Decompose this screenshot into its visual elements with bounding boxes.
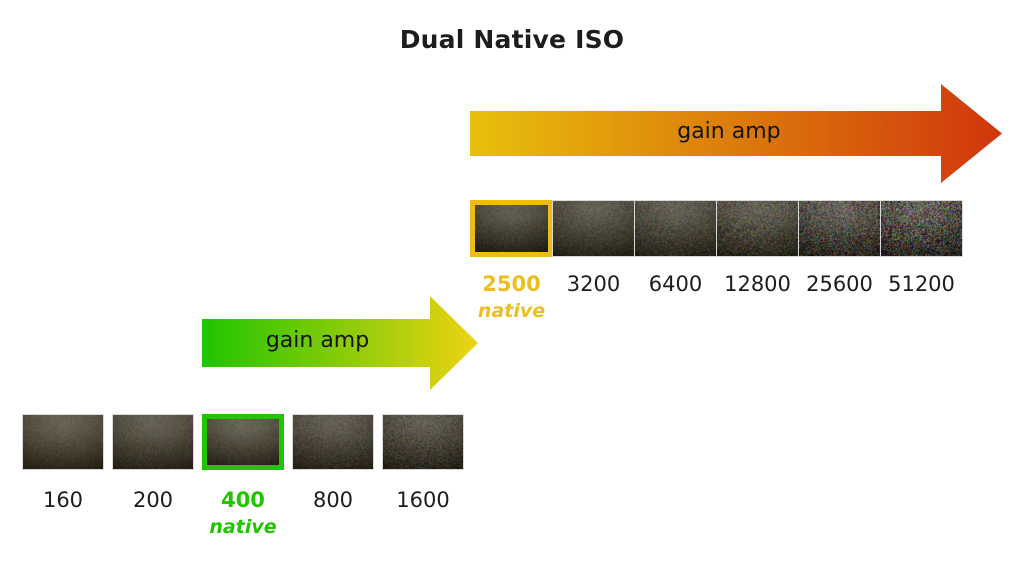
- patch-vignette: [383, 415, 463, 469]
- iso-noise-patch: [552, 200, 635, 257]
- iso-cell: 51200: [880, 200, 963, 257]
- patch-vignette: [799, 201, 880, 256]
- gain-amp-label-high: gain amp: [677, 119, 780, 144]
- iso-cell: 200: [112, 414, 194, 470]
- slide-canvas: Dual Native ISO gain amp 2500native32006…: [0, 0, 1024, 576]
- iso-value-label: 6400: [634, 272, 717, 296]
- iso-value-label: 1600: [382, 488, 464, 512]
- iso-noise-patch: [470, 200, 553, 257]
- iso-noise-patch: [22, 414, 104, 470]
- iso-noise-patch: [880, 200, 963, 257]
- iso-patch-row-high: 2500native32006400128002560051200: [470, 200, 962, 324]
- iso-noise-patch: [382, 414, 464, 470]
- patch-vignette: [881, 201, 962, 256]
- iso-patch-row-low: 160200400native8001600: [22, 414, 472, 540]
- iso-noise-patch: [716, 200, 799, 257]
- patch-vignette: [207, 419, 279, 465]
- iso-noise-patch: [292, 414, 374, 470]
- iso-cell: 1600: [382, 414, 464, 470]
- iso-cell: 25600: [798, 200, 881, 257]
- iso-cell: 400native: [202, 414, 284, 470]
- gain-amp-label-low: gain amp: [266, 328, 369, 353]
- iso-cell: 6400: [634, 200, 717, 257]
- iso-cell: 3200: [552, 200, 635, 257]
- patch-vignette: [553, 201, 634, 256]
- page-title: Dual Native ISO: [0, 25, 1024, 54]
- iso-noise-patch: [112, 414, 194, 470]
- patch-vignette: [113, 415, 193, 469]
- native-iso-badge: native: [470, 300, 553, 322]
- iso-cell: 800: [292, 414, 374, 470]
- iso-value-label: 2500: [470, 272, 553, 296]
- iso-cell: 160: [22, 414, 104, 470]
- iso-noise-patch: [202, 414, 284, 470]
- iso-noise-patch: [798, 200, 881, 257]
- iso-noise-patch: [634, 200, 717, 257]
- iso-value-label: 51200: [880, 272, 963, 296]
- patch-vignette: [475, 205, 548, 252]
- iso-value-label: 800: [292, 488, 374, 512]
- native-iso-badge: native: [202, 516, 284, 538]
- iso-value-label: 160: [22, 488, 104, 512]
- iso-value-label: 12800: [716, 272, 799, 296]
- patch-vignette: [717, 201, 798, 256]
- iso-value-label: 200: [112, 488, 194, 512]
- iso-value-label: 400: [202, 488, 284, 512]
- iso-cell: 12800: [716, 200, 799, 257]
- iso-value-label: 3200: [552, 272, 635, 296]
- iso-cell: 2500native: [470, 200, 553, 257]
- patch-vignette: [635, 201, 716, 256]
- iso-value-label: 25600: [798, 272, 881, 296]
- patch-vignette: [23, 415, 103, 469]
- patch-vignette: [293, 415, 373, 469]
